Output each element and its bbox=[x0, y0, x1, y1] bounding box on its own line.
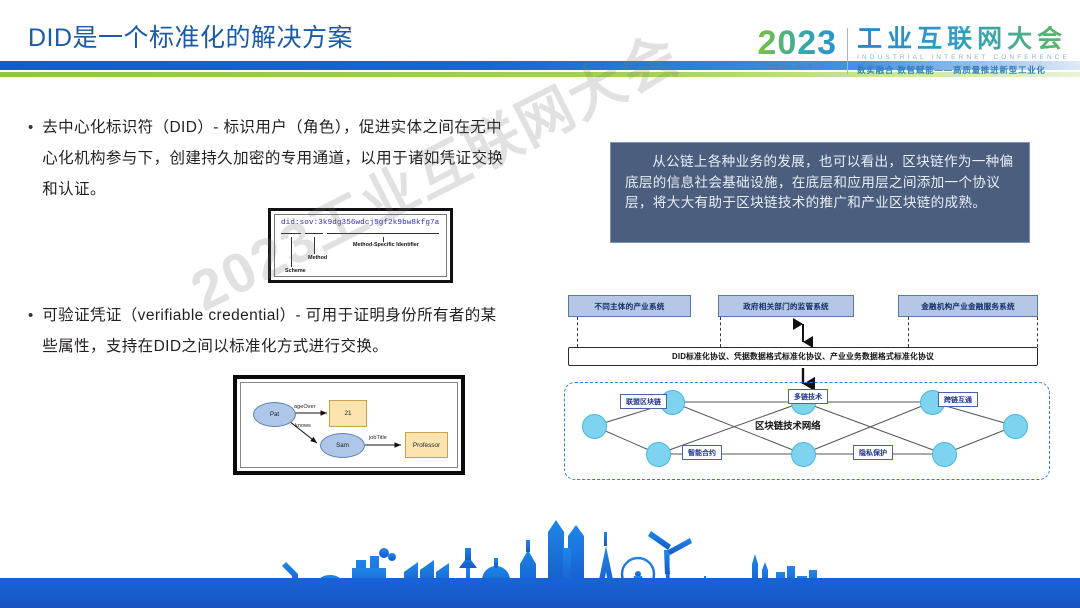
bullet-marker: • bbox=[28, 112, 33, 205]
logo-year-block: 2023 中国·苏州 · 3月11日-13日 bbox=[757, 26, 847, 70]
rdf-graph-figure: Pat Sam 21 Professor ageOver knows jobTi… bbox=[233, 375, 465, 475]
did-label-msid: Method-Specific Identifier bbox=[353, 242, 419, 248]
did-syntax-inner: did:sov:3k9dg356wdcj5gf2k9bw8kfg7a Metho… bbox=[274, 214, 447, 277]
conference-logo: 2023 中国·苏州 · 3月11日-13日 工业互联网大会 INDUSTRIA… bbox=[757, 26, 1070, 76]
quote-box: 从公链上各种业务的发展，也可以看出，区块链作为一种偏底层的信息社会基础设施，在底… bbox=[610, 142, 1030, 243]
did-label-method: Method bbox=[308, 255, 327, 261]
logo-date: 中国·苏州 · 3月11日-13日 bbox=[757, 64, 837, 70]
network-node bbox=[791, 442, 816, 467]
network-node bbox=[1003, 414, 1028, 439]
did-label-scheme: Scheme bbox=[285, 268, 306, 274]
bullet-marker: • bbox=[28, 300, 33, 362]
quote-text: 从公链上各种业务的发展，也可以看出，区块链作为一种偏底层的信息社会基础设施，在底… bbox=[625, 152, 1015, 214]
network-label-multichain: 多链技术 bbox=[788, 389, 828, 404]
rdf-node-professor: Professor bbox=[405, 432, 448, 458]
logo-divider bbox=[847, 28, 848, 74]
bullet-text: 可验证凭证（verifiable credential）- 可用于证明身份所有者… bbox=[42, 300, 508, 362]
rdf-node-age: 21 bbox=[329, 400, 367, 427]
arch-protocol-bar: DID标准化协议、凭据数据格式标准化协议、产业业务数据格式标准化协议 bbox=[568, 347, 1038, 366]
page-title: DID是一个标准化的解决方案 bbox=[28, 18, 353, 54]
bullet-text: 去中心化标识符（DID）- 标识用户（角色），促进实体之间在无中心化机构参与下，… bbox=[42, 112, 508, 205]
network-label-privacy: 隐私保护 bbox=[853, 445, 893, 460]
rdf-edge-jobtitle: jobTitle bbox=[369, 435, 387, 441]
rdf-node-sam: Sam bbox=[320, 433, 365, 458]
bullet-item-2: • 可验证凭证（verifiable credential）- 可用于证明身份所… bbox=[28, 300, 508, 362]
rdf-edge-knows: knows bbox=[295, 423, 311, 429]
did-string: did:sov:3k9dg356wdcj5gf2k9bw8kfg7a bbox=[281, 219, 439, 227]
footer-band bbox=[0, 578, 1080, 608]
architecture-diagram: 不同主体的产业系统 政府相关部门的监管系统 金融机构产业金融服务系统 bbox=[560, 290, 1060, 490]
rdf-graph-inner: Pat Sam 21 Professor ageOver knows jobTi… bbox=[240, 382, 458, 468]
did-stem-method bbox=[314, 237, 315, 254]
did-stem-scheme bbox=[291, 237, 292, 267]
network-center-label: 区块链技术网络 bbox=[755, 418, 821, 432]
network-label-smart-contract: 智能合约 bbox=[682, 445, 722, 460]
rdf-edge-ageover: ageOver bbox=[294, 404, 315, 410]
logo-name-cn: 工业互联网大会 bbox=[857, 26, 1070, 52]
did-syntax-figure: did:sov:3k9dg356wdcj5gf2k9bw8kfg7a Metho… bbox=[268, 208, 453, 283]
logo-slogan: 数实融合 数智赋能——高质量推进新型工业化 bbox=[857, 64, 1070, 76]
bullet-item-1: • 去中心化标识符（DID）- 标识用户（角色），促进实体之间在无中心化机构参与… bbox=[28, 112, 508, 205]
rdf-node-pat: Pat bbox=[253, 402, 296, 427]
logo-text-block: 工业互联网大会 INDUSTRIAL INTERNET CONFERENCE 数… bbox=[857, 26, 1070, 76]
network-node bbox=[646, 442, 671, 467]
logo-year: 2023 bbox=[757, 26, 837, 60]
network-label-alliance-chain: 联盟区块链 bbox=[620, 394, 667, 409]
network-node bbox=[932, 442, 957, 467]
network-label-crosschain: 跨链互通 bbox=[938, 392, 978, 407]
footer-skyline bbox=[0, 498, 1080, 608]
network-node bbox=[582, 414, 607, 439]
logo-name-en: INDUSTRIAL INTERNET CONFERENCE bbox=[857, 54, 1070, 61]
